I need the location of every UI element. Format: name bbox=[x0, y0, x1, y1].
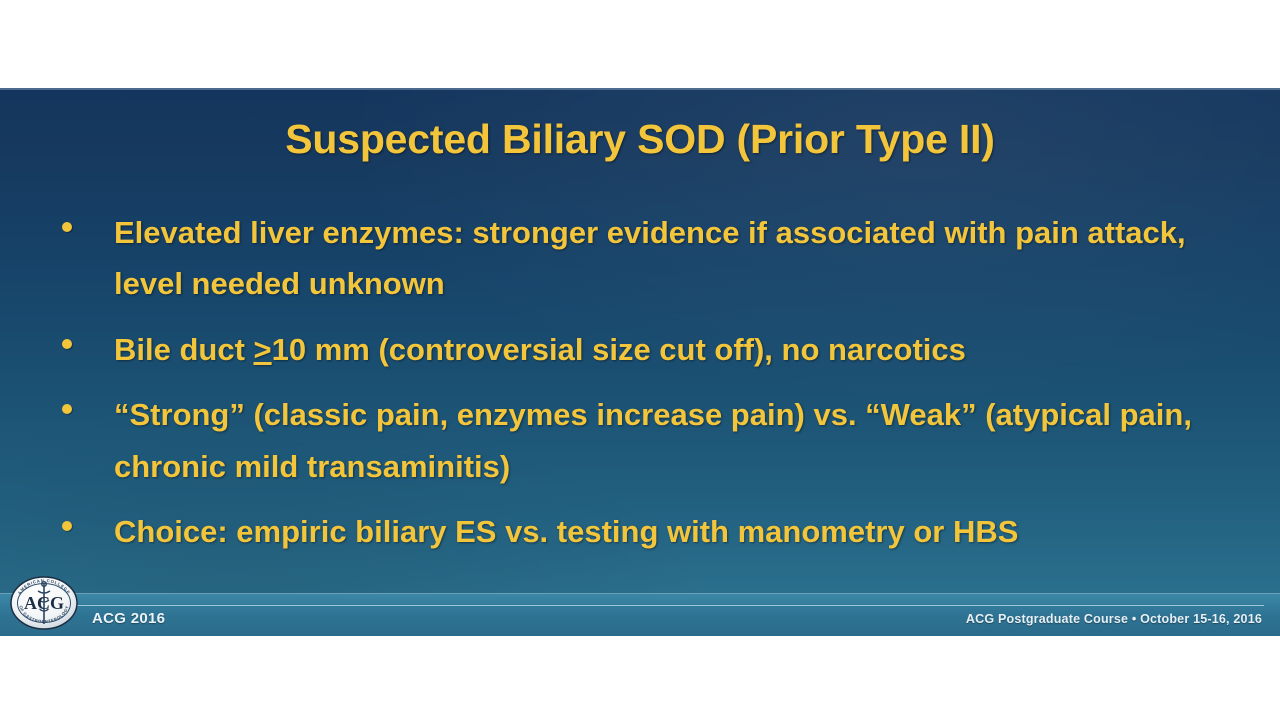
slide-title: Suspected Biliary SOD (Prior Type II) bbox=[0, 116, 1280, 163]
bullet-item-elevated-liver-enzymes: Elevated liver enzymes: stronger evidenc… bbox=[62, 207, 1222, 310]
bullet-text-part: 10 mm (controversial size cut off), no n… bbox=[272, 332, 966, 367]
bullet-dot-icon bbox=[62, 222, 72, 232]
bullet-text-part: Choice: empiric biliary ES vs. testing w… bbox=[114, 514, 1018, 549]
bullet-dot-icon bbox=[62, 521, 72, 531]
bullet-text-part: Elevated liver enzymes: stronger evidenc… bbox=[114, 215, 1186, 301]
presentation-slide: Suspected Biliary SOD (Prior Type II) El… bbox=[0, 88, 1280, 636]
bullet-text: Bile duct >10 mm (controversial size cut… bbox=[114, 324, 1222, 375]
footer-course-line: ACG Postgraduate Course • October 15-16,… bbox=[966, 612, 1262, 626]
bullet-item-bile-duct-size: Bile duct >10 mm (controversial size cut… bbox=[62, 324, 1222, 375]
footer-divider-line bbox=[74, 605, 1264, 606]
bullet-dot-icon bbox=[62, 404, 72, 414]
bullet-text: “Strong” (classic pain, enzymes increase… bbox=[114, 389, 1222, 492]
bullet-text: Choice: empiric biliary ES vs. testing w… bbox=[114, 506, 1222, 557]
acg-logo: ACG AMERICAN COLLEGE OF GASTROENTEROLOGY bbox=[8, 574, 80, 632]
footer-event-label: ACG 2016 bbox=[92, 610, 165, 627]
slide-viewport: Suspected Biliary SOD (Prior Type II) El… bbox=[0, 0, 1280, 720]
bullet-item-choice-of-management: Choice: empiric biliary ES vs. testing w… bbox=[62, 506, 1222, 557]
letterbox-top bbox=[0, 0, 1280, 88]
bullet-list: Elevated liver enzymes: stronger evidenc… bbox=[62, 207, 1222, 572]
acg-logo-center-text: ACG bbox=[24, 593, 64, 613]
slide-footer-bar: ACG 2016 ACG Postgraduate Course • Octob… bbox=[0, 593, 1280, 636]
slide-top-edge bbox=[0, 88, 1280, 90]
bullet-text-part: “Strong” (classic pain, enzymes increase… bbox=[114, 397, 1192, 483]
letterbox-bottom bbox=[0, 636, 1280, 720]
bullet-item-strong-vs-weak: “Strong” (classic pain, enzymes increase… bbox=[62, 389, 1222, 492]
bullet-dot-icon bbox=[62, 339, 72, 349]
bullet-text-part: Bile duct bbox=[114, 332, 254, 367]
bullet-text: Elevated liver enzymes: stronger evidenc… bbox=[114, 207, 1222, 310]
greater-or-equal-marker: > bbox=[254, 332, 272, 367]
